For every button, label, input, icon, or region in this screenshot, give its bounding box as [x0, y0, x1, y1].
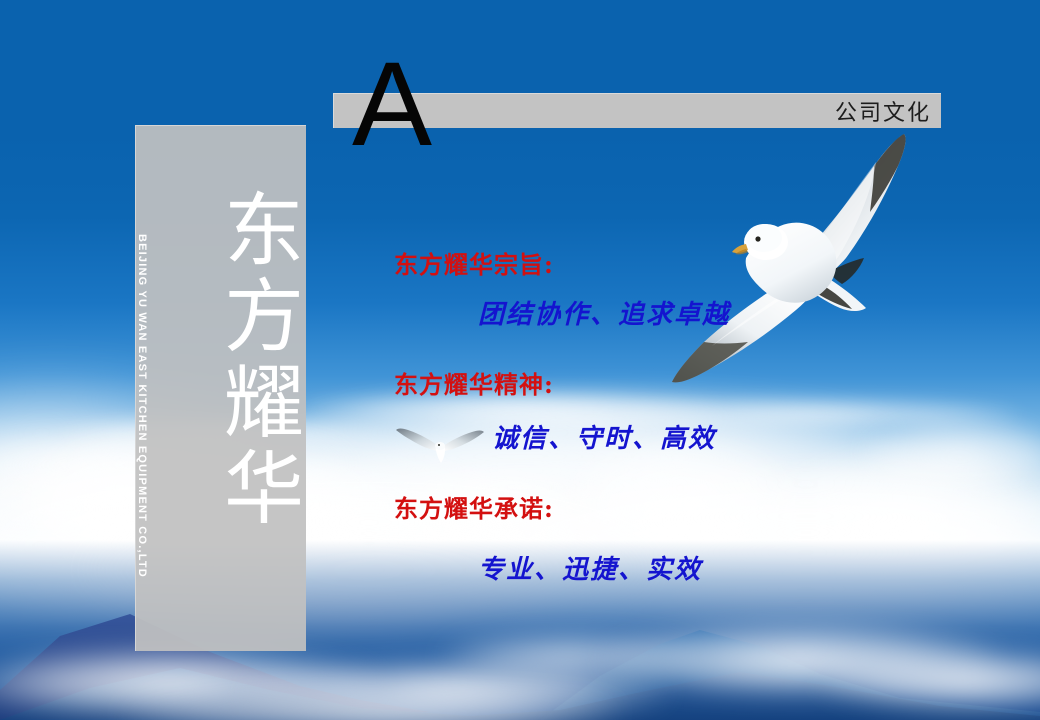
culture-phrase-purpose: 团结协作、追求卓越: [478, 294, 730, 331]
culture-heading-promise: 东方耀华承诺:: [394, 489, 554, 524]
culture-content: 东方耀华宗旨: 团结协作、追求卓越 东方耀华精神: 诚信、守时、高效 东方耀华承…: [0, 0, 1040, 720]
slide-canvas: 东方耀华 BEIJING YU WAN EAST KITCHEN EQUIPME…: [0, 0, 1040, 720]
culture-phrase-spirit: 诚信、守时、高效: [492, 418, 716, 455]
culture-heading-purpose: 东方耀华宗旨:: [394, 245, 554, 280]
culture-phrase-promise: 专业、迅捷、实效: [478, 549, 702, 586]
culture-heading-spirit: 东方耀华精神:: [394, 365, 554, 400]
